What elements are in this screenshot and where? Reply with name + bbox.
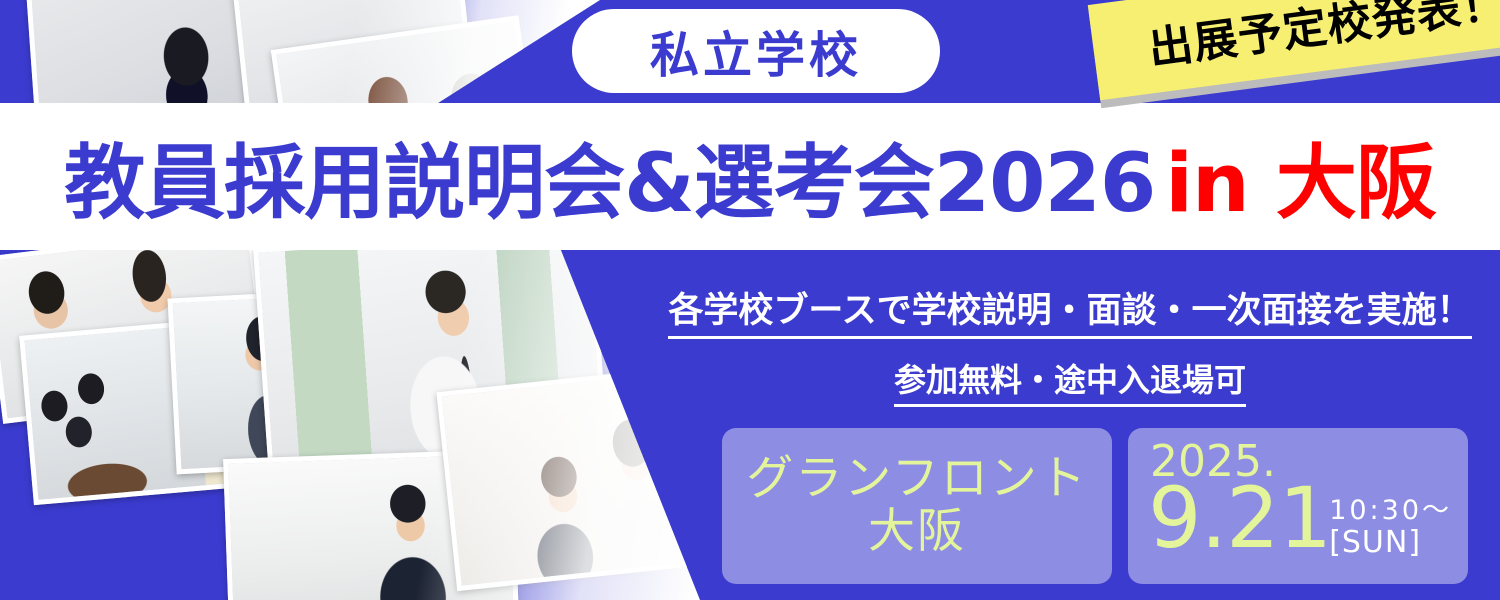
venue-line-1: グランフロント (746, 454, 1088, 505)
date-day-of-week: [SUN] (1329, 526, 1452, 559)
date-start-time: 10:30〜 (1329, 496, 1452, 526)
headline-label: 各学校ブースで学校説明・面談・一次面接を実施！ (668, 291, 1471, 339)
ribbon-label: 出展予定校発表！ (1144, 0, 1500, 77)
venue-line-2: 大阪 (868, 507, 966, 558)
subline-label: 参加無料・途中入退場可 (894, 361, 1246, 407)
venue-box: グランフロント 大阪 (722, 428, 1112, 584)
date-box: 2025. 9.21 10:30〜 [SUN] (1128, 428, 1468, 584)
subline-text: 参加無料・途中入退場可 (640, 355, 1500, 401)
banner-title-accent: in 大阪 (1155, 118, 1436, 235)
event-banner: 教員採用説明会&選考会2026in 大阪 私立学校 出展予定校発表！ 各学校ブー… (0, 0, 1500, 600)
banner-title-main: 教員採用説明会&選考会2026 (64, 118, 1155, 235)
date-meta: 10:30〜 [SUN] (1329, 496, 1452, 559)
date-day: 9.21 (1148, 476, 1331, 560)
info-row: グランフロント 大阪 2025. 9.21 10:30〜 [SUN] (722, 428, 1468, 584)
title-band: 教員採用説明会&選考会2026in 大阪 (0, 103, 1500, 250)
ribbon-body: 出展予定校発表！ (1088, 0, 1500, 100)
announcement-ribbon: 出展予定校発表！ (1088, 0, 1500, 100)
photo-collage-top (0, 0, 600, 108)
school-type-badge: 私立学校 (572, 9, 940, 93)
info-panel: 各学校ブースで学校説明・面談・一次面接を実施！ 参加無料・途中入退場可 グランフ… (640, 250, 1500, 600)
banner-title: 教員採用説明会&選考会2026in 大阪 (0, 103, 1500, 250)
school-type-badge-label: 私立学校 (650, 16, 862, 87)
headline-text: 各学校ブースで学校説明・面談・一次面接を実施！ (640, 282, 1500, 333)
